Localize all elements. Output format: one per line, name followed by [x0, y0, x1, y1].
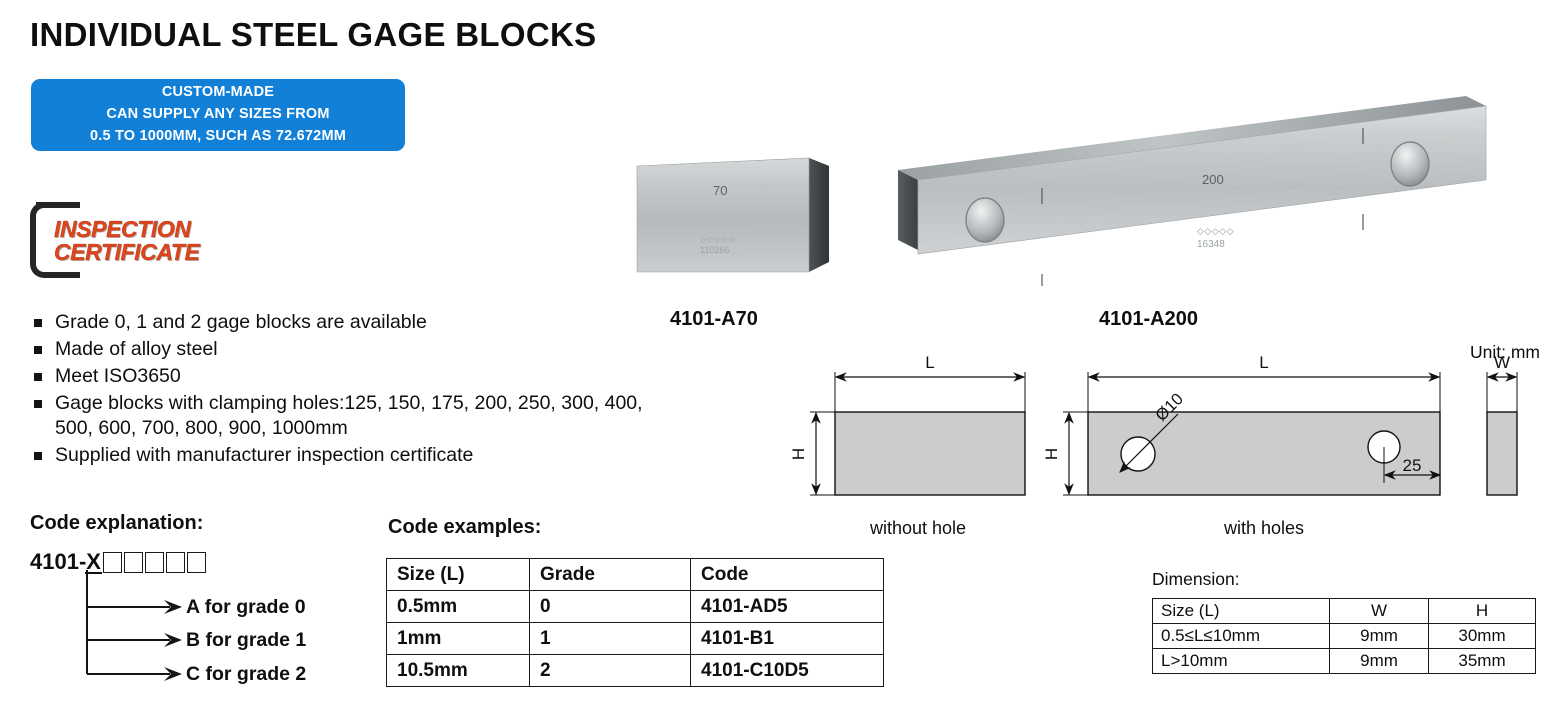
table-row: 10.5mm 2 4101-C10D5 — [387, 655, 884, 687]
column-header-grade: Grade — [530, 559, 691, 591]
table-row: 0.5mm 0 4101-AD5 — [387, 591, 884, 623]
square-bullet-icon — [34, 400, 42, 408]
custom-badge-line-1: CUSTOM-MADE — [162, 82, 274, 104]
dimension-title: Dimension: — [1152, 569, 1240, 590]
list-item-label: Made of alloy steel — [55, 338, 218, 360]
label-edge-distance: 25 — [1403, 456, 1422, 475]
cell-size: 0.5≤L≤10mm — [1153, 624, 1330, 649]
list-item: Meet ISO3650 — [30, 364, 650, 389]
list-item: Supplied with manufacturer inspection ce… — [30, 443, 650, 468]
column-header-size: Size (L) — [387, 559, 530, 591]
cell-size: 0.5mm — [387, 591, 530, 623]
table-header-row: Size (L) W H — [1153, 599, 1536, 624]
list-item: Grade 0, 1 and 2 gage blocks are availab… — [30, 310, 650, 335]
cell-grade: 1 — [530, 623, 691, 655]
column-header-size: Size (L) — [1153, 599, 1330, 624]
cell-h: 35mm — [1429, 649, 1536, 674]
square-bullet-icon — [34, 452, 42, 460]
square-bullet-icon — [34, 373, 42, 381]
cell-w: 9mm — [1330, 624, 1429, 649]
code-explanation-title: Code explanation: — [30, 512, 203, 535]
list-item-label: Gage blocks with clamping holes:125, 150… — [55, 392, 643, 439]
page-title: INDIVIDUAL STEEL GAGE BLOCKS — [30, 16, 596, 54]
serial-number: 16348 — [1197, 239, 1225, 250]
cell-grade: 0 — [530, 591, 691, 623]
photo-caption-a70: 4101-A70 — [670, 308, 758, 331]
drawing-with-holes: L H Ø10 25 — [1042, 353, 1440, 495]
label-L-without-hole: L — [925, 353, 934, 372]
column-header-w: W — [1330, 599, 1429, 624]
custom-badge-line-3: 0.5 TO 1000MM, SUCH AS 72.672MM — [90, 126, 346, 148]
list-item: Made of alloy steel — [30, 337, 650, 362]
table-header-row: Size (L) Grade Code — [387, 559, 884, 591]
cell-code: 4101-B1 — [691, 623, 884, 655]
branch-label-b: B for grade 1 — [186, 629, 306, 652]
photo-caption-a200: 4101-A200 — [1099, 308, 1198, 331]
drawing-side-view: W — [1487, 353, 1517, 495]
cell-h: 30mm — [1429, 624, 1536, 649]
branch-label-c: C for grade 2 — [186, 663, 306, 686]
inspection-certificate-logo-text: INSPECTION CERTIFICATE — [54, 218, 200, 263]
brand-mark: ◇◇◇◇◇ — [1197, 226, 1234, 236]
label-L-with-holes: L — [1259, 353, 1268, 372]
inspection-logo-line-1: INSPECTION — [54, 218, 200, 241]
column-header-code: Code — [691, 559, 884, 591]
engraving-value: 70 — [713, 183, 727, 198]
custom-made-badge: CUSTOM-MADE CAN SUPPLY ANY SIZES FROM 0.… — [31, 79, 405, 151]
gage-block-200-svg: 200 ◇◇◇◇◇ 16348 — [890, 88, 1490, 286]
drawing-caption-without-hole: without hole — [870, 518, 966, 539]
label-H-without-hole: H — [790, 448, 808, 460]
table-row: 0.5≤L≤10mm 9mm 30mm — [1153, 624, 1536, 649]
custom-badge-line-2: CAN SUPPLY ANY SIZES FROM — [106, 104, 329, 126]
table-row: L>10mm 9mm 35mm — [1153, 649, 1536, 674]
serial-number: 110266 — [700, 245, 729, 255]
list-item-label: Supplied with manufacturer inspection ce… — [55, 444, 473, 466]
cell-code: 4101-AD5 — [691, 591, 884, 623]
drawing-caption-with-holes: with holes — [1224, 518, 1304, 539]
gage-block-70-svg: 70 ◇◇◇◇◇ 110266 — [633, 150, 833, 278]
cell-size: 1mm — [387, 623, 530, 655]
code-branch-diagram: A for grade 0 B for grade 1 C for grade … — [30, 570, 230, 695]
drawing-without-hole: L H — [790, 353, 1025, 495]
brand-mark: ◇◇◇◇◇ — [700, 235, 736, 244]
table-row: 1mm 1 4101-B1 — [387, 623, 884, 655]
technical-drawings: L H L H Ø10 — [790, 340, 1554, 515]
label-W-side-view: W — [1494, 353, 1510, 372]
drawings-svg: L H L H Ø10 — [790, 340, 1554, 510]
feature-list: Grade 0, 1 and 2 gage blocks are availab… — [30, 310, 650, 470]
list-item: Gage blocks with clamping holes:125, 150… — [30, 391, 650, 441]
square-bullet-icon — [34, 319, 42, 327]
cell-w: 9mm — [1330, 649, 1429, 674]
inspection-logo-line-2: CERTIFICATE — [54, 241, 200, 264]
column-header-h: H — [1429, 599, 1536, 624]
list-item-label: Meet ISO3650 — [55, 365, 181, 387]
product-photo-a70: 70 ◇◇◇◇◇ 110266 — [633, 150, 833, 278]
inspection-certificate-logo: INSPECTION CERTIFICATE — [28, 200, 258, 270]
cell-size: 10.5mm — [387, 655, 530, 687]
engraving-value: 200 — [1202, 172, 1224, 187]
square-bullet-icon — [34, 346, 42, 354]
cell-size: L>10mm — [1153, 649, 1330, 674]
cell-grade: 2 — [530, 655, 691, 687]
code-examples-table: Size (L) Grade Code 0.5mm 0 4101-AD5 1mm… — [386, 558, 884, 687]
label-H-with-holes: H — [1042, 448, 1061, 460]
list-item-label: Grade 0, 1 and 2 gage blocks are availab… — [55, 311, 427, 333]
branch-label-a: A for grade 0 — [186, 596, 306, 619]
code-examples-title: Code examples: — [388, 516, 541, 539]
product-photo-a200: 200 ◇◇◇◇◇ 16348 — [890, 88, 1490, 286]
dimension-table: Size (L) W H 0.5≤L≤10mm 9mm 30mm L>10mm … — [1152, 598, 1536, 674]
cell-code: 4101-C10D5 — [691, 655, 884, 687]
